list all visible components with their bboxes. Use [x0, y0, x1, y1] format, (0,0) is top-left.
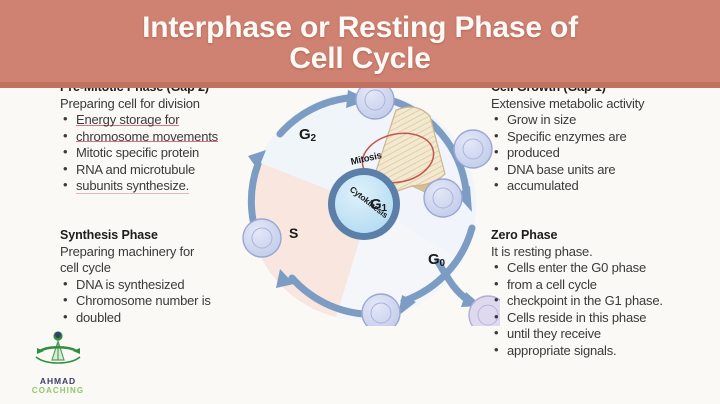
- synthesis-subtitle-line1: Preparing machinery for: [60, 244, 270, 260]
- list-item: appropriate signals.: [491, 343, 719, 359]
- list-item: doubled: [60, 310, 270, 326]
- label-s-phase: S: [289, 225, 298, 241]
- list-item: Specific enzymes are: [491, 129, 719, 145]
- synthesis-heading: Synthesis Phase: [60, 228, 270, 243]
- synthesis-subtitle-line2: cell cycle: [60, 260, 270, 276]
- pre-mitotic-bullet-list: Energy storage for chromosome movements …: [60, 112, 270, 194]
- block-zero-phase: Zero Phase It is resting phase. Cells en…: [491, 228, 719, 360]
- list-item: Mitotic specific protein: [60, 145, 270, 161]
- cell-growth-bullet-list: Grow in size Specific enzymes are produc…: [491, 112, 719, 194]
- list-item: Cells enter the G0 phase: [491, 260, 719, 276]
- list-item: DNA base units are: [491, 162, 719, 178]
- list-item: DNA is synthesized: [60, 277, 270, 293]
- title-line-1: Interphase or Resting Phase of: [142, 13, 578, 44]
- block-cell-growth: Cell Growth (Gap 1) Extensive metabolic …: [491, 80, 719, 195]
- zero-phase-subtitle: It is resting phase.: [491, 244, 719, 260]
- coach-figure-icon: [28, 330, 88, 370]
- list-item: Grow in size: [491, 112, 719, 128]
- list-item: Cells reside in this phase: [491, 310, 719, 326]
- list-item: checkpoint in the G1 phase.: [491, 293, 719, 309]
- label-g0: G0: [428, 251, 445, 269]
- list-item: subunits synthesize.: [60, 178, 270, 194]
- block-pre-mitotic-phase: Pre-Mitotic Phase (Gap 2) Preparing cell…: [60, 80, 270, 195]
- list-item: chromosome movements: [60, 129, 270, 145]
- list-item: RNA and microtubule: [60, 162, 270, 178]
- title-banner: Interphase or Resting Phase of Cell Cycl…: [0, 0, 720, 88]
- pre-mitotic-subtitle: Preparing cell for division: [60, 96, 270, 112]
- logo-text-secondary: COACHING: [20, 386, 96, 395]
- cell-growth-subtitle: Extensive metabolic activity: [491, 96, 719, 112]
- synthesis-bullet-list: DNA is synthesized Chromosome number is …: [60, 277, 270, 326]
- list-item: produced: [491, 145, 719, 161]
- zero-phase-bullet-list: Cells enter the G0 phase from a cell cyc…: [491, 260, 719, 359]
- list-item: accumulated: [491, 178, 719, 194]
- logo: AHMAD COACHING: [20, 330, 96, 392]
- label-g2: G2: [299, 126, 316, 144]
- list-item: from a cell cycle: [491, 277, 719, 293]
- zero-phase-heading: Zero Phase: [491, 228, 719, 243]
- slide-canvas: G2 G1 G0 S Mitosis Cytokinesis Pre-Mitot…: [0, 0, 720, 404]
- title-line-2: Cell Cycle: [142, 44, 578, 75]
- page-title: Interphase or Resting Phase of Cell Cycl…: [132, 13, 588, 74]
- list-item: until they receive: [491, 326, 719, 342]
- list-item: Energy storage for: [60, 112, 270, 128]
- logo-text-primary: AHMAD: [20, 376, 96, 386]
- block-synthesis-phase: Synthesis Phase Preparing machinery for …: [60, 228, 270, 326]
- list-item: Chromosome number is: [60, 293, 270, 309]
